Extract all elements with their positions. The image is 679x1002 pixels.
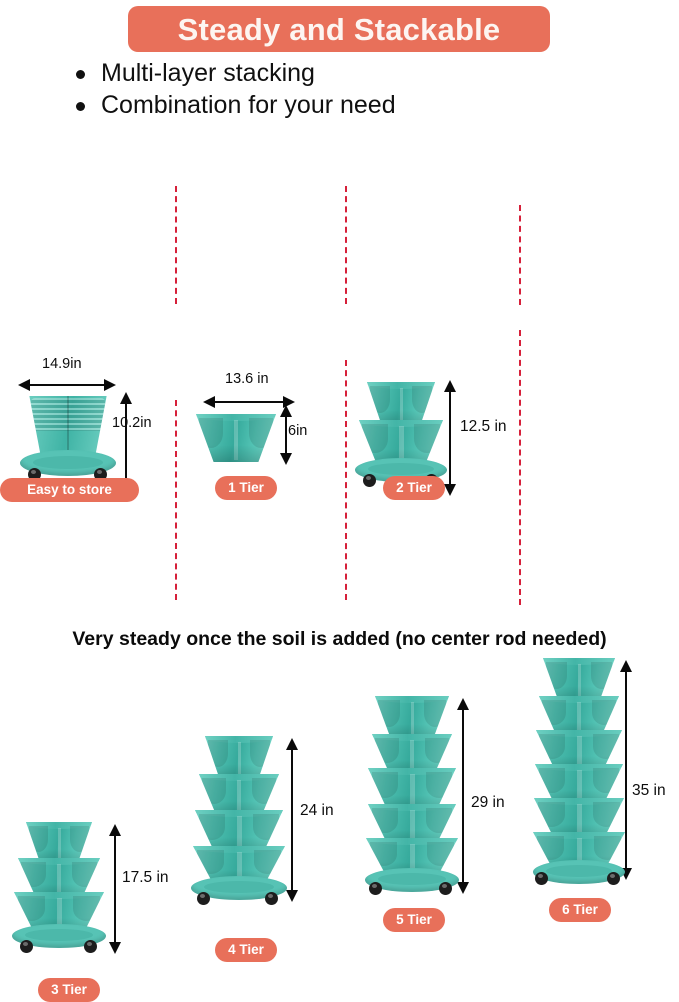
footer-caption: Very steady once the soil is added (no c… xyxy=(0,630,679,650)
tray-inner-well xyxy=(378,873,446,885)
page-title: Steady and Stackable xyxy=(178,14,501,45)
planter-tier xyxy=(195,810,283,852)
planter-tier xyxy=(368,768,456,810)
product-cell-six-tier: 35 in xyxy=(519,320,679,600)
product-cell-four-tier: 24 in xyxy=(175,360,345,600)
tray-inner-well xyxy=(25,929,93,941)
bullet-dot-icon xyxy=(76,70,85,79)
pot-lobe-right xyxy=(591,662,613,689)
list-item: Combination for your need xyxy=(76,90,596,122)
tray-inner-well xyxy=(204,881,273,893)
caster-wheel-icon xyxy=(607,872,620,885)
pot-lobe-right xyxy=(424,700,446,727)
status-badge: 3 Tier xyxy=(38,978,100,1002)
pot-lobe-left xyxy=(208,740,228,767)
height-dimension-label: 17.5 in xyxy=(122,870,169,886)
caster-wheel-icon xyxy=(265,892,278,905)
product-cell-two-tier: 12.5 in 2 Tier xyxy=(345,176,519,326)
product-cell-three-tier: 17.5 in xyxy=(0,400,175,600)
column-divider xyxy=(519,205,521,305)
height-dimension-label: 29 in xyxy=(471,795,505,811)
tray-inner-well xyxy=(546,865,612,877)
height-dimension-label: 35 in xyxy=(632,783,666,799)
height-dimension-label: 24 in xyxy=(300,803,334,819)
status-badge-label: 5 Tier xyxy=(396,913,432,927)
planter-illustration-six-tier xyxy=(533,654,627,890)
caster-wheel-icon xyxy=(535,872,548,885)
status-badge-label: 4 Tier xyxy=(228,943,264,957)
caster-wheel-icon xyxy=(20,940,33,953)
status-badge: 6 Tier xyxy=(549,898,611,922)
bullet-text: Combination for your need xyxy=(101,90,396,120)
pot-lobe-left xyxy=(378,700,400,727)
status-badge: 5 Tier xyxy=(383,908,445,932)
width-dimension-arrow xyxy=(18,378,116,392)
bullet-text: Multi-layer stacking xyxy=(101,58,315,88)
list-item: Multi-layer stacking xyxy=(76,58,596,90)
caster-wheel-icon xyxy=(439,882,452,895)
header-title-badge: Steady and Stackable xyxy=(128,6,550,52)
width-dimension-label: 14.9in xyxy=(42,357,82,372)
planter-illustration-three-tier xyxy=(12,818,106,960)
caster-wheel-icon xyxy=(197,892,210,905)
pot-lobe-right xyxy=(250,740,270,767)
height-dimension-arrow xyxy=(285,738,299,902)
planter-illustration-four-tier xyxy=(191,732,287,910)
feature-bullet-list: Multi-layer stacking Combination for you… xyxy=(76,58,596,122)
bullet-dot-icon xyxy=(76,102,85,111)
planter-tier xyxy=(205,736,273,780)
planter-illustration-five-tier xyxy=(365,692,461,902)
pot-lobe-left xyxy=(546,662,568,689)
status-badge-label: 3 Tier xyxy=(51,983,87,997)
status-badge: 4 Tier xyxy=(215,938,277,962)
planter-tier xyxy=(375,696,449,740)
product-cell-easy-to-store: 14.9in 10.2in Easy to store xyxy=(0,176,175,326)
product-cell-five-tier: 29 in xyxy=(345,330,519,600)
planter-tier xyxy=(199,774,279,816)
height-dimension-arrow xyxy=(108,824,122,954)
caster-wheel-icon xyxy=(369,882,382,895)
status-badge-label: 6 Tier xyxy=(562,903,598,917)
planter-tier xyxy=(26,822,92,864)
product-cell-one-tier: 13.6 in 6in 1 Tier xyxy=(175,176,345,326)
caster-wheel-icon xyxy=(84,940,97,953)
